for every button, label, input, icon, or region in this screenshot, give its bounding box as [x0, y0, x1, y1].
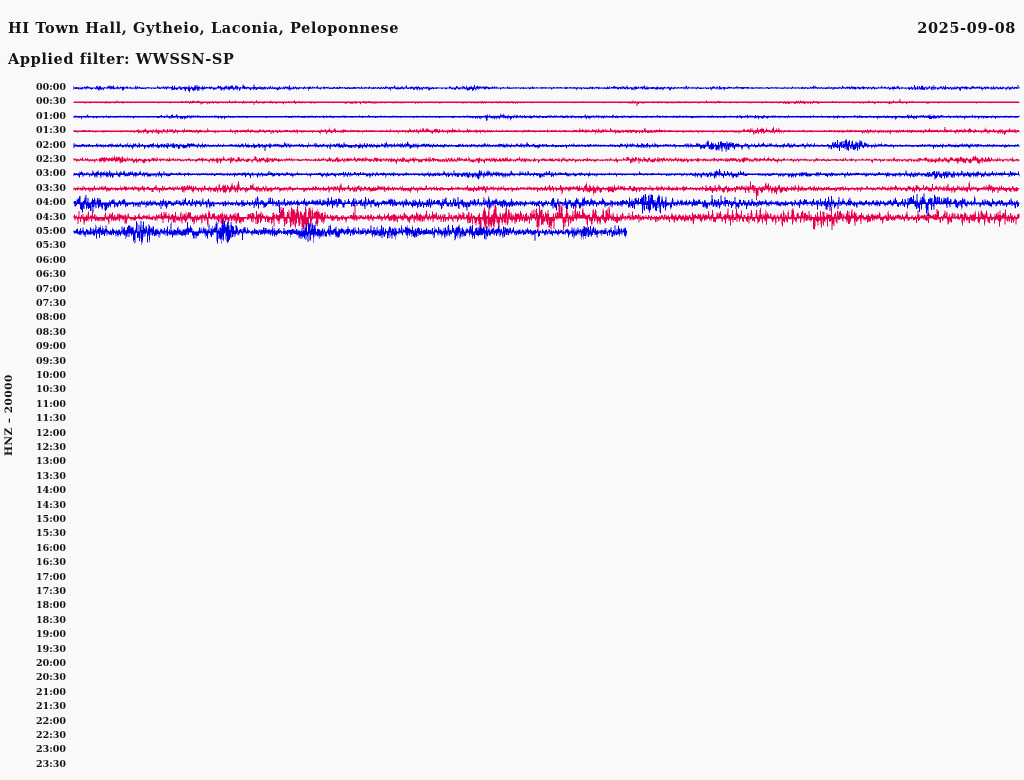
trace-0330: [74, 181, 1019, 200]
trace-0400: [74, 194, 1019, 216]
seismogram-page: HI Town Hall, Gytheio, Laconia, Peloponn…: [0, 0, 1024, 780]
seismogram-traces: [0, 0, 1024, 780]
trace-0100: [74, 114, 1019, 121]
seismogram-plot-area: [0, 0, 1024, 780]
